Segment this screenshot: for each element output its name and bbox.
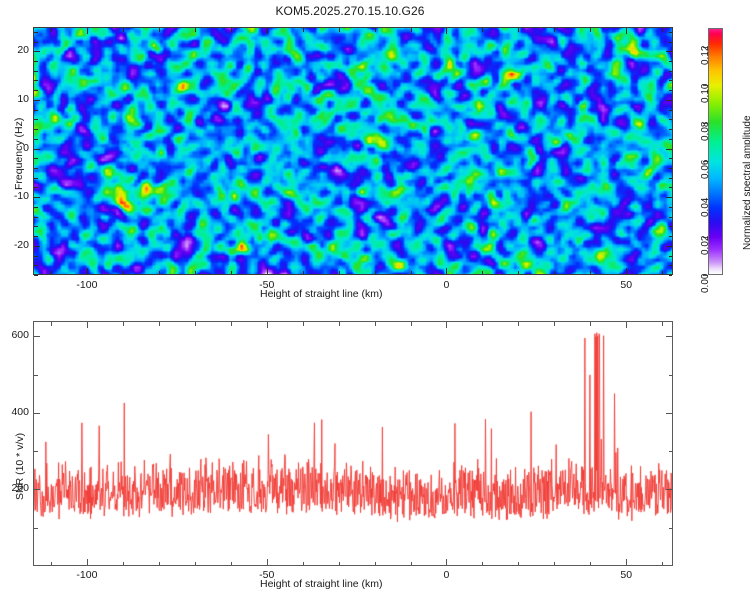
spectrogram-y-tick [34, 119, 38, 120]
spectrogram-y-tick [669, 187, 673, 188]
spectrogram-y-tick [666, 197, 672, 198]
snr-y-tick [666, 413, 672, 414]
snr-x-tick [518, 562, 519, 566]
snr-x-tick [339, 322, 340, 326]
spectrogram-x-tick [518, 271, 519, 275]
spectrogram-y-tick [669, 217, 673, 218]
spectrogram-x-tick [446, 28, 447, 34]
spectrogram-y-tick [666, 246, 672, 247]
snr-y-tick [669, 528, 673, 529]
snr-y-tick [34, 489, 40, 490]
spectrogram-x-tick [303, 28, 304, 32]
spectrogram-y-tick [34, 61, 38, 62]
spectrogram-image [33, 27, 673, 275]
spectrogram-x-tick [123, 271, 124, 275]
snr-x-tick [375, 322, 376, 326]
spectrogram-y-tick [34, 71, 38, 72]
spectrogram-y-tick [669, 236, 673, 237]
spectrogram-x-tick [51, 271, 52, 275]
spectrogram-x-tick [411, 271, 412, 275]
snr-x-tick [411, 562, 412, 566]
colorbar-ticklabel: 0.08 [700, 122, 711, 141]
snr-x-tick [87, 559, 88, 565]
spectrogram-x-tick [267, 268, 268, 274]
spectrogram-x-tick [411, 28, 412, 32]
snr-x-tick [590, 322, 591, 326]
spectrogram-x-tick [518, 28, 519, 32]
spectrogram-y-tick [34, 110, 38, 111]
snr-x-tick [159, 322, 160, 326]
spectrogram-x-tick [482, 271, 483, 275]
spectrogram-x-tick [339, 271, 340, 275]
spectrogram-y-tick [669, 110, 673, 111]
snr-x-tick [554, 322, 555, 326]
spectrogram-x-ticklabel: -100 [67, 279, 107, 291]
spectrogram-y-tick [34, 246, 40, 247]
spectrogram-y-tick [34, 265, 38, 266]
spectrogram-y-tick [669, 275, 673, 276]
spectrogram-x-tick [231, 271, 232, 275]
snr-y-tick [34, 336, 40, 337]
spectrogram-x-tick [267, 28, 268, 34]
spectrogram-x-tick [554, 271, 555, 275]
spectrogram-x-tick [303, 271, 304, 275]
snr-x-tick [231, 562, 232, 566]
spectrogram-x-tick [590, 271, 591, 275]
spectrogram-y-tick [669, 207, 673, 208]
snr-x-tick [339, 562, 340, 566]
colorbar-ticklabel: 0.06 [700, 160, 711, 179]
spectrogram-x-tick [662, 28, 663, 32]
snr-x-tick [231, 322, 232, 326]
spectrogram-x-tick [482, 28, 483, 32]
snr-x-tick [482, 562, 483, 566]
spectrogram-x-tick [554, 28, 555, 32]
snr-y-tick [669, 375, 673, 376]
spectrogram-x-tick [159, 28, 160, 32]
figure-root: KOM5.2025.270.15.10.G26 -20-1001020 -100… [0, 0, 750, 600]
snr-x-tick [303, 562, 304, 566]
snr-y-tick [666, 489, 672, 490]
spectrogram-y-tick [669, 90, 673, 91]
snr-x-tick [87, 322, 88, 328]
spectrogram-y-tick [669, 265, 673, 266]
snr-x-axis-title: Height of straight line (km) [260, 578, 383, 590]
spectrogram-y-tick [34, 129, 38, 130]
snr-x-tick [123, 322, 124, 326]
spectrogram-y-tick [666, 149, 672, 150]
colorbar-ticklabel: 0.10 [700, 84, 711, 103]
spectrogram-y-tick [666, 51, 672, 52]
snr-x-tick [51, 322, 52, 326]
spectrogram-x-tick [626, 28, 627, 34]
spectrogram-y-tick [34, 256, 38, 257]
spectrogram-y-tick [34, 207, 38, 208]
spectrogram-y-tick [34, 236, 38, 237]
spectrogram-y-tick [34, 139, 38, 140]
snr-trace [34, 322, 672, 565]
spectrogram-x-tick [662, 271, 663, 275]
snr-y-ticklabel: 400 [1, 406, 29, 418]
spectrogram-y-ticklabel: -20 [3, 239, 29, 251]
spectrogram-y-tick [669, 129, 673, 130]
spectrogram-y-tick [669, 32, 673, 33]
spectrogram-y-tick [669, 71, 673, 72]
spectrogram-y-tick [669, 119, 673, 120]
snr-x-tick [446, 559, 447, 565]
spectrogram-x-ticklabel: 0 [426, 279, 466, 291]
spectrogram-x-tick [195, 28, 196, 32]
snr-y-tick [34, 528, 38, 529]
spectrogram-y-tick [34, 168, 38, 169]
snr-x-tick [662, 562, 663, 566]
snr-x-tick [195, 322, 196, 326]
spectrogram-x-tick [231, 28, 232, 32]
spectrogram-x-axis-title: Height of straight line (km) [260, 288, 383, 300]
spectrogram-y-tick [34, 217, 38, 218]
snr-x-tick [626, 559, 627, 565]
colorbar-ticklabel: 0.04 [700, 198, 711, 217]
snr-y-tick [34, 375, 38, 376]
snr-x-tick [51, 562, 52, 566]
spectrogram-x-tick [87, 28, 88, 34]
spectrogram-y-tick [669, 226, 673, 227]
snr-x-tick [159, 562, 160, 566]
snr-x-ticklabel: 0 [426, 569, 466, 581]
spectrogram-y-tick [669, 42, 673, 43]
snr-x-tick [267, 322, 268, 328]
snr-y-tick [34, 451, 38, 452]
spectrogram-y-tick [34, 226, 38, 227]
spectrogram-y-tick [34, 90, 38, 91]
snr-y-ticklabel: 600 [1, 329, 29, 341]
spectrogram-x-tick [626, 268, 627, 274]
snr-x-tick [626, 322, 627, 328]
snr-x-ticklabel: 50 [606, 569, 646, 581]
spectrogram-y-tick [669, 168, 673, 169]
spectrogram-y-tick [666, 100, 672, 101]
snr-x-tick [482, 322, 483, 326]
spectrogram-y-tick [34, 187, 38, 188]
spectrogram-x-tick [375, 271, 376, 275]
snr-y-tick [34, 413, 40, 414]
snr-x-tick [411, 322, 412, 326]
spectrogram-y-tick [34, 197, 40, 198]
snr-y-axis-title: SNR (10 * v/v) [14, 433, 26, 500]
page-title: KOM5.2025.270.15.10.G26 [0, 4, 700, 18]
spectrogram-x-tick [159, 271, 160, 275]
snr-x-tick [267, 559, 268, 565]
spectrogram-y-tick [34, 275, 38, 276]
spectrogram-y-ticklabel: -10 [3, 190, 29, 202]
spectrogram-y-tick [669, 61, 673, 62]
spectrogram-x-tick [375, 28, 376, 32]
snr-x-tick [123, 562, 124, 566]
snr-x-tick [518, 322, 519, 326]
spectrogram-y-tick [34, 51, 40, 52]
spectrogram-y-ticklabel: 20 [3, 44, 29, 56]
spectrogram-y-ticklabel: 10 [3, 93, 29, 105]
colorbar-ticklabel: 0.12 [700, 46, 711, 65]
spectrogram-y-tick [34, 100, 40, 101]
spectrogram-y-axis-title: Frequency (Hz) [13, 118, 25, 190]
snr-y-tick [669, 451, 673, 452]
spectrogram-y-tick [34, 80, 38, 81]
spectrogram-y-tick [34, 149, 40, 150]
snr-x-tick [554, 562, 555, 566]
spectrogram-y-tick [669, 139, 673, 140]
snr-x-ticklabel: -100 [67, 569, 107, 581]
snr-x-tick [375, 562, 376, 566]
spectrogram-x-ticklabel: 50 [606, 279, 646, 291]
spectrogram-x-tick [195, 271, 196, 275]
colorbar-ticklabel: 0.02 [700, 236, 711, 255]
snr-x-tick [303, 322, 304, 326]
spectrogram-x-tick [590, 28, 591, 32]
spectrogram-y-tick [669, 256, 673, 257]
snr-x-tick [446, 322, 447, 328]
snr-x-tick [195, 562, 196, 566]
spectrogram-y-tick [34, 178, 38, 179]
spectrogram-x-tick [87, 268, 88, 274]
spectrogram-y-tick [669, 178, 673, 179]
spectrogram-y-tick [34, 42, 38, 43]
spectrogram-x-tick [446, 268, 447, 274]
snr-x-tick [590, 562, 591, 566]
spectrogram-y-tick [34, 32, 38, 33]
snr-x-tick [662, 322, 663, 326]
spectrogram-x-tick [339, 28, 340, 32]
spectrogram-y-tick [669, 80, 673, 81]
spectrogram-x-tick [51, 28, 52, 32]
spectrogram-y-tick [34, 158, 38, 159]
snr-y-tick [666, 336, 672, 337]
colorbar-ticklabel: 0.00 [700, 274, 711, 293]
spectrogram-y-tick [669, 158, 673, 159]
colorbar-title: Normalized spectral amplitude [742, 115, 750, 250]
spectrogram-x-tick [123, 28, 124, 32]
